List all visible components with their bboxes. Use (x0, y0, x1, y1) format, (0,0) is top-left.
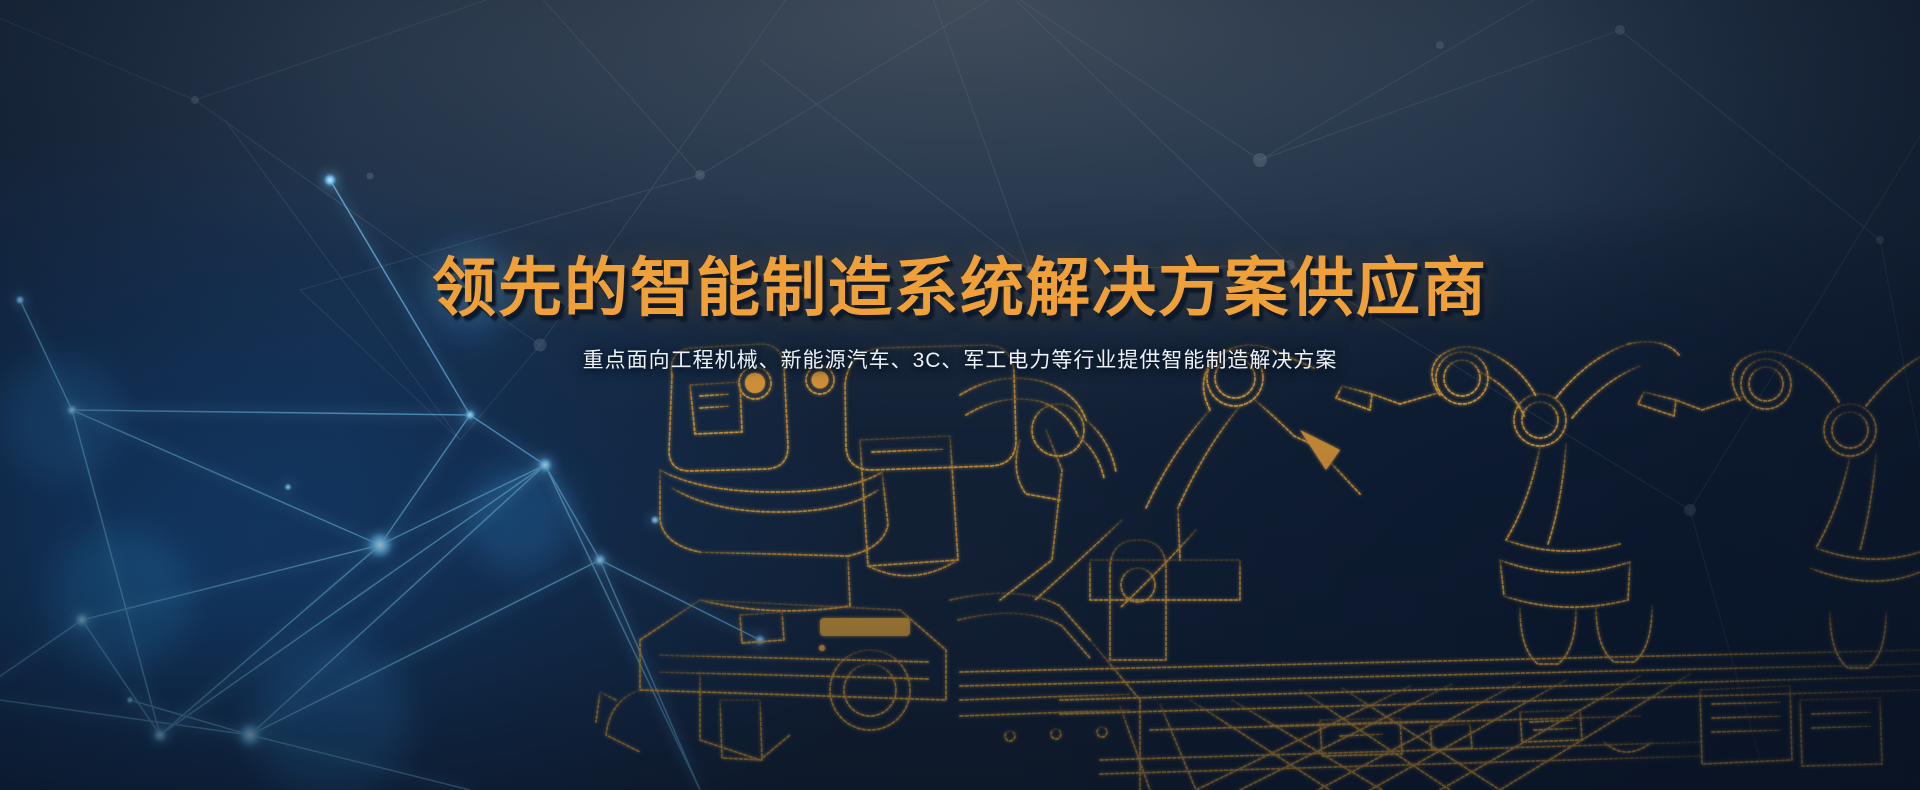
hero-text-block: 领先的智能制造系统解决方案供应商 重点面向工程机械、新能源汽车、3C、军工电力等… (0, 0, 1920, 374)
page-title: 领先的智能制造系统解决方案供应商 (0, 0, 1920, 322)
hero-banner: 领先的智能制造系统解决方案供应商 重点面向工程机械、新能源汽车、3C、军工电力等… (0, 0, 1920, 790)
page-subtitle: 重点面向工程机械、新能源汽车、3C、军工电力等行业提供智能制造解决方案 (0, 322, 1920, 374)
